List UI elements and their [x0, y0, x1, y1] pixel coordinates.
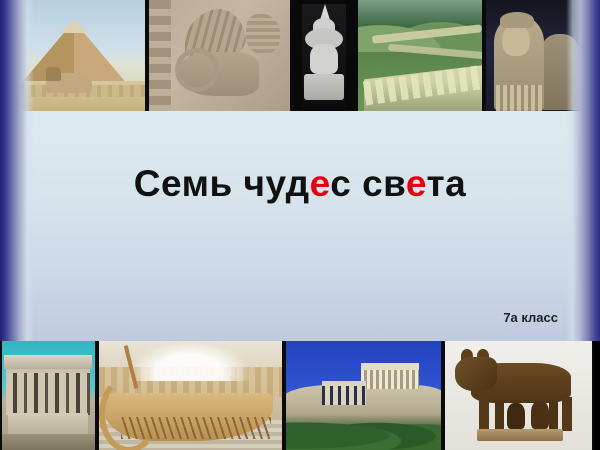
- great-wall-photo: [356, 0, 484, 111]
- title-segment-2: с св: [330, 163, 406, 204]
- title-segment-1: Семь чуд: [134, 163, 310, 204]
- subtitle-class-label: 7а класс: [503, 310, 558, 325]
- title-highlight-1: е: [310, 163, 331, 204]
- title-segment-3: та: [427, 163, 467, 204]
- acropolis-photo: [284, 341, 443, 450]
- ganesha-statue-photo: [292, 0, 356, 111]
- capitoline-wolf-photo: [443, 341, 594, 450]
- greek-trireme-photo: [97, 341, 284, 450]
- page-title: Семь чудес света: [0, 163, 600, 205]
- presentation-slide: Семь чудес света 7а класс: [0, 0, 600, 450]
- top-photo-strip: [0, 0, 600, 111]
- terracotta-warriors-photo: [484, 0, 584, 111]
- bottom-photo-strip: [0, 341, 600, 450]
- title-highlight-2: е: [406, 163, 427, 204]
- caryatids-photo: [0, 341, 97, 450]
- pyramid-sphinx-photo: [0, 0, 147, 111]
- persian-relief-photo: [147, 0, 292, 111]
